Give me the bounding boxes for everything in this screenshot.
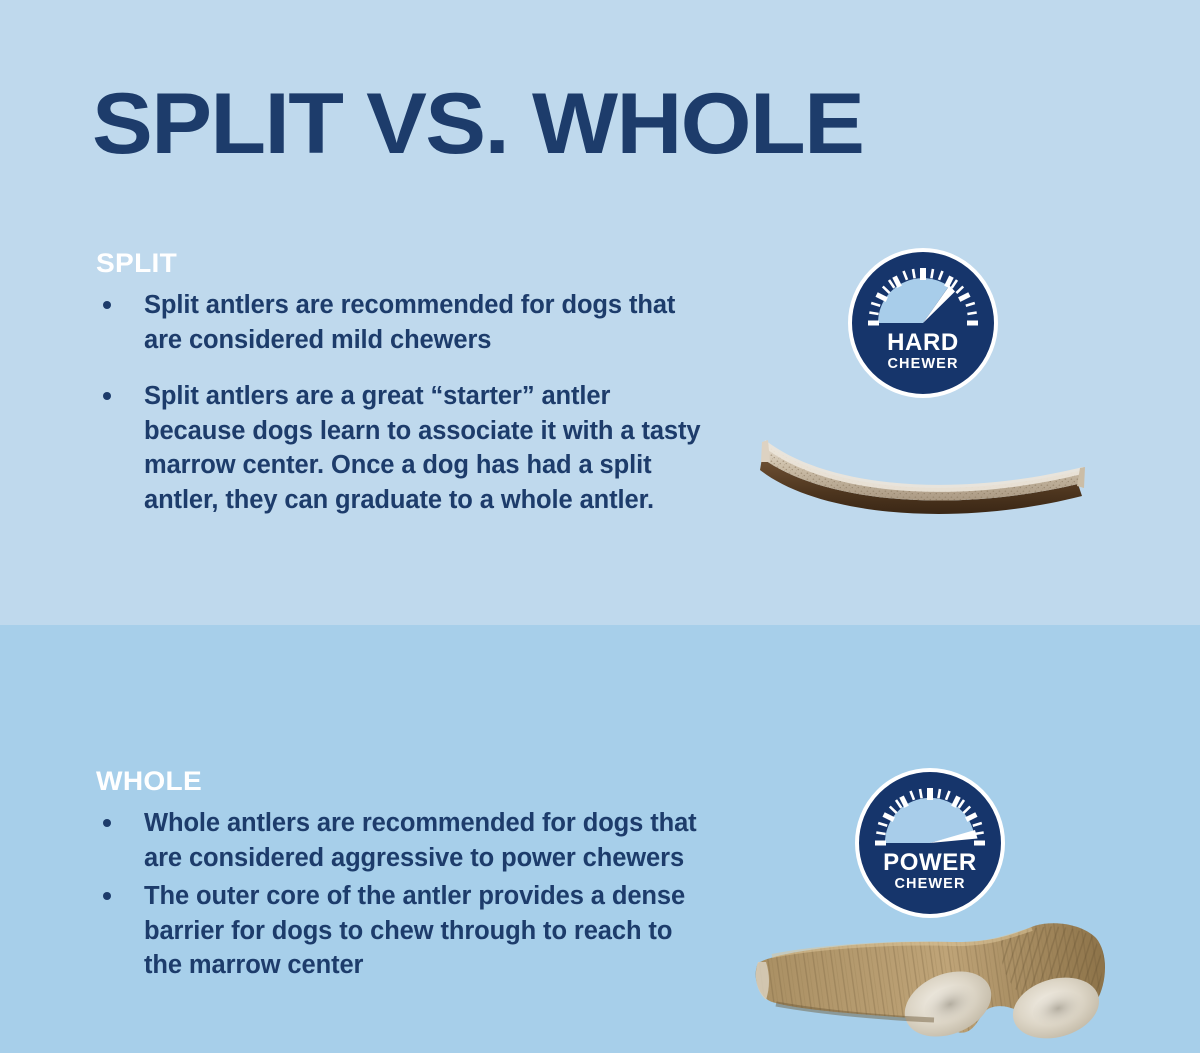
badge-sub-label: CHEWER: [852, 356, 994, 372]
list-item-text: The outer core of the antler provides a …: [144, 882, 685, 979]
whole-bullet-list: Whole antlers are recommended for dogs t…: [96, 806, 708, 987]
badge-main-label: HARD: [852, 330, 994, 356]
hard-chewer-badge: HARD CHEWER: [848, 248, 998, 398]
infographic-page: SPLIT VS. WHOLE SPLIT Split antlers are …: [0, 0, 1200, 1053]
whole-antler-illustration: [752, 916, 1112, 1053]
list-item-text: Split antlers are recommended for dogs t…: [144, 291, 675, 354]
badge-main-label: POWER: [859, 850, 1001, 876]
list-item-text: Split antlers are a great “starter” antl…: [144, 382, 701, 514]
power-chewer-badge: POWER CHEWER: [855, 768, 1005, 918]
list-item: Whole antlers are recommended for dogs t…: [96, 806, 708, 875]
list-item-text: Whole antlers are recommended for dogs t…: [144, 809, 697, 872]
list-item: Split antlers are a great “starter” antl…: [96, 379, 708, 517]
split-heading: SPLIT: [96, 248, 177, 278]
list-item: Split antlers are recommended for dogs t…: [96, 288, 708, 357]
badge-sub-label: CHEWER: [859, 876, 1001, 892]
bullet-dot-icon: [103, 301, 111, 309]
split-antler-photo: [752, 418, 1088, 522]
bullet-dot-icon: [103, 819, 111, 827]
split-bullet-list: Split antlers are recommended for dogs t…: [96, 288, 708, 539]
gauge-icon: [859, 772, 1001, 914]
bullet-dot-icon: [103, 892, 111, 900]
split-section: SPLIT VS. WHOLE SPLIT Split antlers are …: [0, 0, 1200, 625]
whole-section: WHOLE Whole antlers are recommended for …: [0, 625, 1200, 1053]
whole-heading: WHOLE: [96, 766, 202, 796]
list-item: The outer core of the antler provides a …: [96, 879, 708, 983]
split-antler-illustration: [752, 418, 1088, 522]
gauge-icon: [852, 252, 994, 394]
bullet-dot-icon: [103, 392, 111, 400]
page-title: SPLIT VS. WHOLE: [92, 76, 863, 172]
whole-antler-photo: [752, 916, 1112, 1053]
